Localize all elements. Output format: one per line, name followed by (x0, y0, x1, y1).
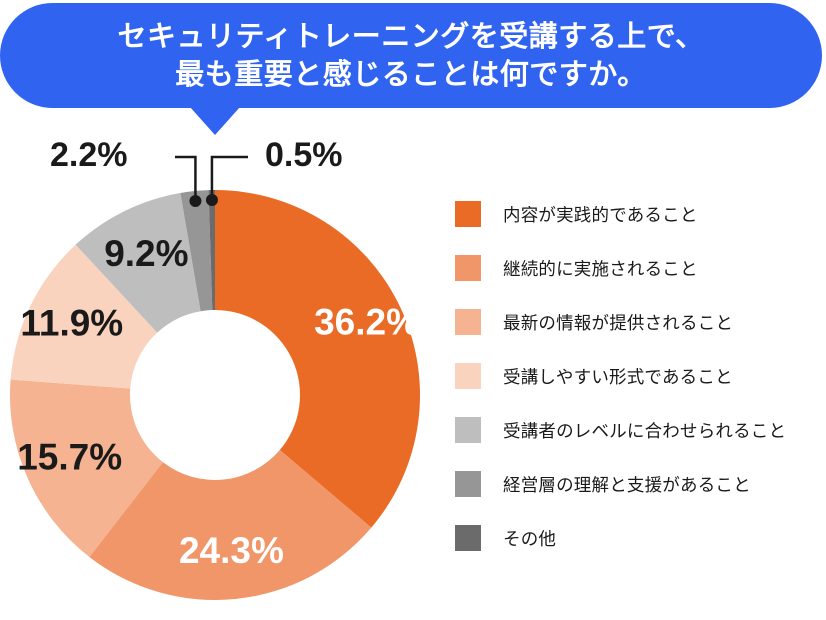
title-banner-container: セキュリティトレーニングを受講する上で、 最も重要と感じることは何ですか。 (0, 3, 822, 108)
slice-percentage-label: 36.2% (314, 302, 419, 343)
legend-color-swatch (455, 255, 481, 281)
title-banner: セキュリティトレーニングを受講する上で、 最も重要と感じることは何ですか。 (0, 3, 822, 108)
legend-item[interactable]: 受講しやすい形式であること (455, 362, 820, 390)
legend-item[interactable]: 内容が実践的であること (455, 200, 820, 228)
legend-color-swatch (455, 471, 481, 497)
legend-item-label: 最新の情報が提供されること (503, 310, 733, 335)
title-line-2: 最も重要と感じることは何ですか。 (175, 56, 646, 94)
legend-item-label: その他 (503, 526, 556, 551)
legend-item[interactable]: 受講者のレベルに合わせられること (455, 416, 820, 444)
legend-item-label: 内容が実践的であること (503, 202, 698, 227)
callout-percentage-label: 0.5% (265, 136, 343, 174)
slice-percentage-label: 15.7% (17, 436, 122, 477)
slice-percentage-label: 24.3% (179, 530, 284, 571)
legend-item[interactable]: 経営層の理解と支援があること (455, 470, 820, 498)
legend-color-swatch (455, 525, 481, 551)
legend-item-label: 受講者のレベルに合わせられること (503, 418, 786, 443)
callout-dot (189, 195, 201, 207)
legend-item[interactable]: その他 (455, 524, 820, 552)
title-line-1: セキュリティトレーニングを受講する上で、 (117, 18, 704, 56)
callout-dot (206, 194, 218, 206)
donut-chart-svg: 2.2%0.5% 36.2%24.3%15.7%11.9%9.2% (0, 112, 440, 620)
legend-color-swatch (455, 309, 481, 335)
slice-percentage-label: 9.2% (104, 233, 188, 274)
legend-item-label: 継続的に実施されること (503, 256, 698, 281)
legend-item[interactable]: 継続的に実施されること (455, 254, 820, 282)
chart-legend: 内容が実践的であること 継続的に実施されること 最新の情報が提供されること 受講… (455, 200, 820, 578)
callout-leader-lines: 2.2%0.5% (50, 136, 343, 207)
legend-color-swatch (455, 201, 481, 227)
legend-item-label: 受講しやすい形式であること (503, 364, 733, 389)
legend-color-swatch (455, 363, 481, 389)
slice-percentage-label: 11.9% (20, 303, 123, 344)
legend-item-label: 経営層の理解と支援があること (503, 472, 751, 497)
callout-percentage-label: 2.2% (50, 136, 128, 174)
legend-color-swatch (455, 417, 481, 443)
legend-item[interactable]: 最新の情報が提供されること (455, 308, 820, 336)
donut-chart: 2.2%0.5% 36.2%24.3%15.7%11.9%9.2% (0, 112, 440, 620)
